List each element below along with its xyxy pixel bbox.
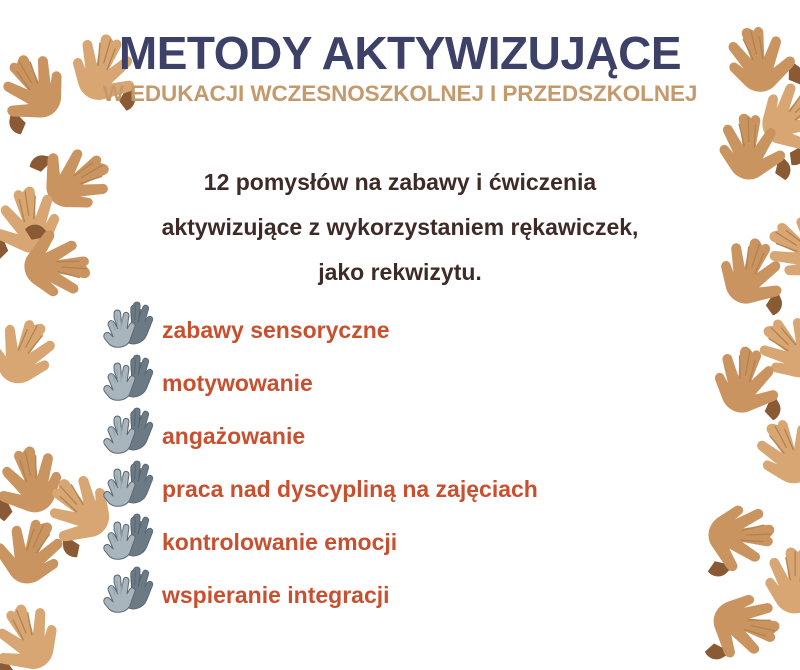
page-subtitle: W EDUKACJI WCZESNOSZKOLNEJ I PRZEDSZKOLN… xyxy=(0,82,800,107)
gloves-icon xyxy=(100,457,156,509)
gloves-icon xyxy=(100,404,156,456)
list-item: angażowanie xyxy=(100,406,720,459)
page-title: METODY AKTYWIZUJĄCE xyxy=(0,30,800,78)
list-item-label: kontrolowanie emocji xyxy=(162,529,397,556)
poster-header: METODY AKTYWIZUJĄCE W EDUKACJI WCZESNOSZ… xyxy=(0,30,800,107)
list-item: praca nad dyscypliną na zajęciach xyxy=(100,459,720,512)
description-line: jako rekwizytu. xyxy=(95,250,705,295)
list-item: wspieranie integracji xyxy=(100,565,720,618)
description-line: aktywizujące z wykorzystaniem rękawiczek… xyxy=(95,205,705,250)
description-line: 12 pomysłów na zabawy i ćwiczenia xyxy=(95,160,705,205)
list-item: motywowanie xyxy=(100,353,720,406)
gloves-icon xyxy=(100,510,156,562)
poster-canvas: METODY AKTYWIZUJĄCE W EDUKACJI WCZESNOSZ… xyxy=(0,0,800,670)
list-item-label: praca nad dyscypliną na zajęciach xyxy=(162,476,538,503)
list-item: zabawy sensoryczne xyxy=(100,300,720,353)
list-item-label: angażowanie xyxy=(162,423,305,450)
list-item-label: motywowanie xyxy=(162,370,313,397)
list-item-label: zabawy sensoryczne xyxy=(162,317,390,344)
description-block: 12 pomysłów na zabawy i ćwiczenia aktywi… xyxy=(95,160,705,295)
poster-content: METODY AKTYWIZUJĄCE W EDUKACJI WCZESNOSZ… xyxy=(0,0,800,670)
gloves-icon xyxy=(100,298,156,350)
benefits-list: zabawy sensoryczne motywowanie xyxy=(100,300,720,618)
gloves-icon xyxy=(100,563,156,615)
list-item-label: wspieranie integracji xyxy=(162,582,390,609)
gloves-icon xyxy=(100,351,156,403)
list-item: kontrolowanie emocji xyxy=(100,512,720,565)
